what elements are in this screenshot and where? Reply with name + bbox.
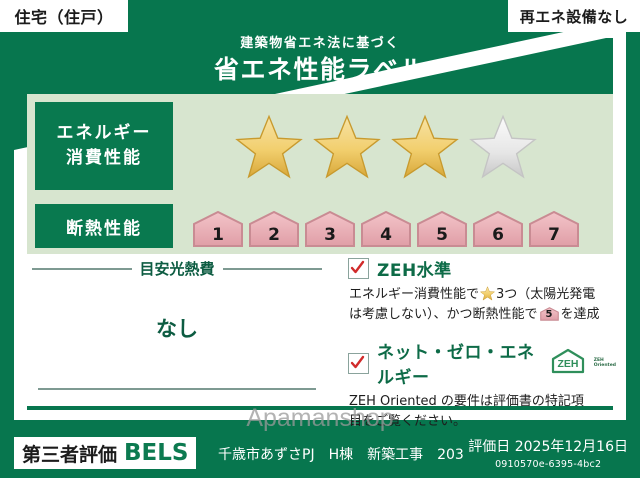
zeh-badge-subtext-2: Oriented bbox=[594, 363, 616, 368]
utility-cost-header: 目安光熱費 bbox=[32, 258, 322, 279]
insulation-grade-label: 3 bbox=[304, 225, 356, 245]
criterion-heading-row: ネット・ゼロ・エネルギー ZEH ZEH Oriented bbox=[348, 338, 616, 388]
building-type-tag: 住宅（住戸） bbox=[0, 0, 128, 32]
insulation-grade-inline-badge: 5 bbox=[540, 306, 559, 322]
divider-left bbox=[32, 268, 132, 270]
divider-right bbox=[223, 268, 323, 270]
energy-performance-label: 住宅（住戸） 再エネ設備なし 建築物省エネ法に基づく 省エネ性能ラベル エネルギ… bbox=[0, 0, 640, 478]
energy-performance-caption: エネルギー 消費性能 bbox=[35, 102, 173, 190]
star-icon-empty-4 bbox=[469, 114, 537, 180]
svg-text:ZEH: ZEH bbox=[557, 358, 578, 370]
footer-bar: 第三者評価 BELS 千歳市あずさPJ H棟 新築工事 203 評価日 2025… bbox=[0, 430, 640, 478]
divider-bottom bbox=[38, 388, 316, 390]
check-icon bbox=[350, 355, 365, 370]
insulation-grade-label: 7 bbox=[528, 225, 580, 245]
utility-cost-block: 目安光熱費 なし bbox=[32, 258, 322, 408]
renewable-equipment-tag: 再エネ設備なし bbox=[508, 0, 640, 32]
checkbox-zeh-standard[interactable] bbox=[348, 258, 369, 279]
criterion-net-zero-energy: ネット・ゼロ・エネルギー ZEH ZEH Oriented ZEH Orient… bbox=[348, 338, 616, 432]
zeh-house-icon: ZEH bbox=[551, 348, 585, 378]
criterion-body-text-3: は考慮しない）、かつ断熱性能で bbox=[349, 307, 538, 322]
insulation-caption-label: 断熱性能 bbox=[66, 214, 142, 239]
star-icon-filled-3 bbox=[391, 114, 459, 180]
check-icon bbox=[350, 260, 365, 275]
criterion-heading-row: ZEH水準 bbox=[348, 256, 616, 281]
star-icon-filled-1 bbox=[235, 114, 303, 180]
evaluation-date: 評価日 2025年12月16日 bbox=[468, 436, 628, 456]
criterion-zeh-standard-body: エネルギー消費性能で3つ（太陽光発電 は考慮しない）、かつ断熱性能で5を達成 bbox=[349, 285, 616, 325]
insulation-grade-badge: 7 bbox=[528, 210, 580, 248]
criterion-body-text-4: を達成 bbox=[561, 307, 600, 322]
zeh-badge-subtext: ZEH Oriented bbox=[594, 358, 616, 368]
criterion-body-text-2: 3つ（太陽光発電 bbox=[496, 287, 595, 302]
energy-star-rating bbox=[235, 114, 575, 180]
insulation-grade-label: 5 bbox=[416, 225, 468, 245]
criterion-zeh-standard-title: ZEH水準 bbox=[377, 256, 452, 281]
criterion-zeh-standard: ZEH水準 エネルギー消費性能で3つ（太陽光発電 は考慮しない）、かつ断熱性能で… bbox=[348, 256, 616, 325]
insulation-grade-badge: 6 bbox=[472, 210, 524, 248]
insulation-grade-inline-label: 5 bbox=[540, 307, 559, 323]
criterion-body-text-2: 目をご覧ください。 bbox=[349, 414, 466, 429]
insulation-grade-badge: 2 bbox=[248, 210, 300, 248]
insulation-grade-label: 6 bbox=[472, 225, 524, 245]
energy-caption-line1: エネルギー bbox=[57, 121, 152, 146]
bels-logo: 第三者評価 BELS bbox=[14, 437, 196, 469]
insulation-grade-badge: 3 bbox=[304, 210, 356, 248]
project-name: 千歳市あずさPJ H棟 新築工事 203 bbox=[218, 444, 464, 464]
evaluation-id: 0910570e-6395-4bc2 bbox=[468, 459, 628, 470]
criterion-body-text-1: ZEH Oriented の要件は評価書の特記項 bbox=[349, 394, 584, 409]
insulation-grade-badge: 1 bbox=[192, 210, 244, 248]
insulation-grade-label: 1 bbox=[192, 225, 244, 245]
criterion-net-zero-energy-body: ZEH Oriented の要件は評価書の特記項 目をご覧ください。 bbox=[349, 392, 616, 432]
insulation-grade-label: 4 bbox=[360, 225, 412, 245]
insulation-grade-badge: 5 bbox=[416, 210, 468, 248]
criteria-block: ZEH水準 エネルギー消費性能で3つ（太陽光発電 は考慮しない）、かつ断熱性能で… bbox=[348, 256, 616, 433]
criterion-net-zero-energy-title: ネット・ゼロ・エネルギー bbox=[377, 338, 541, 388]
insulation-performance-caption: 断熱性能 bbox=[35, 204, 173, 248]
bels-logo-en: BELS bbox=[124, 440, 188, 466]
checkbox-net-zero-energy[interactable] bbox=[348, 353, 369, 374]
bels-logo-jp: 第三者評価 bbox=[22, 440, 117, 467]
insulation-grade-scale: 1 2 3 4 5 6 7 bbox=[192, 206, 592, 248]
criterion-body-text-1: エネルギー消費性能で bbox=[349, 287, 479, 302]
star-icon-inline bbox=[480, 286, 495, 301]
insulation-grade-label: 2 bbox=[248, 225, 300, 245]
energy-caption-line2: 消費性能 bbox=[66, 146, 142, 171]
utility-cost-title: 目安光熱費 bbox=[140, 258, 215, 279]
utility-cost-value: なし bbox=[32, 313, 322, 343]
insulation-grade-badge: 4 bbox=[360, 210, 412, 248]
evaluation-info: 評価日 2025年12月16日 0910570e-6395-4bc2 bbox=[468, 436, 628, 470]
star-icon-filled-2 bbox=[313, 114, 381, 180]
